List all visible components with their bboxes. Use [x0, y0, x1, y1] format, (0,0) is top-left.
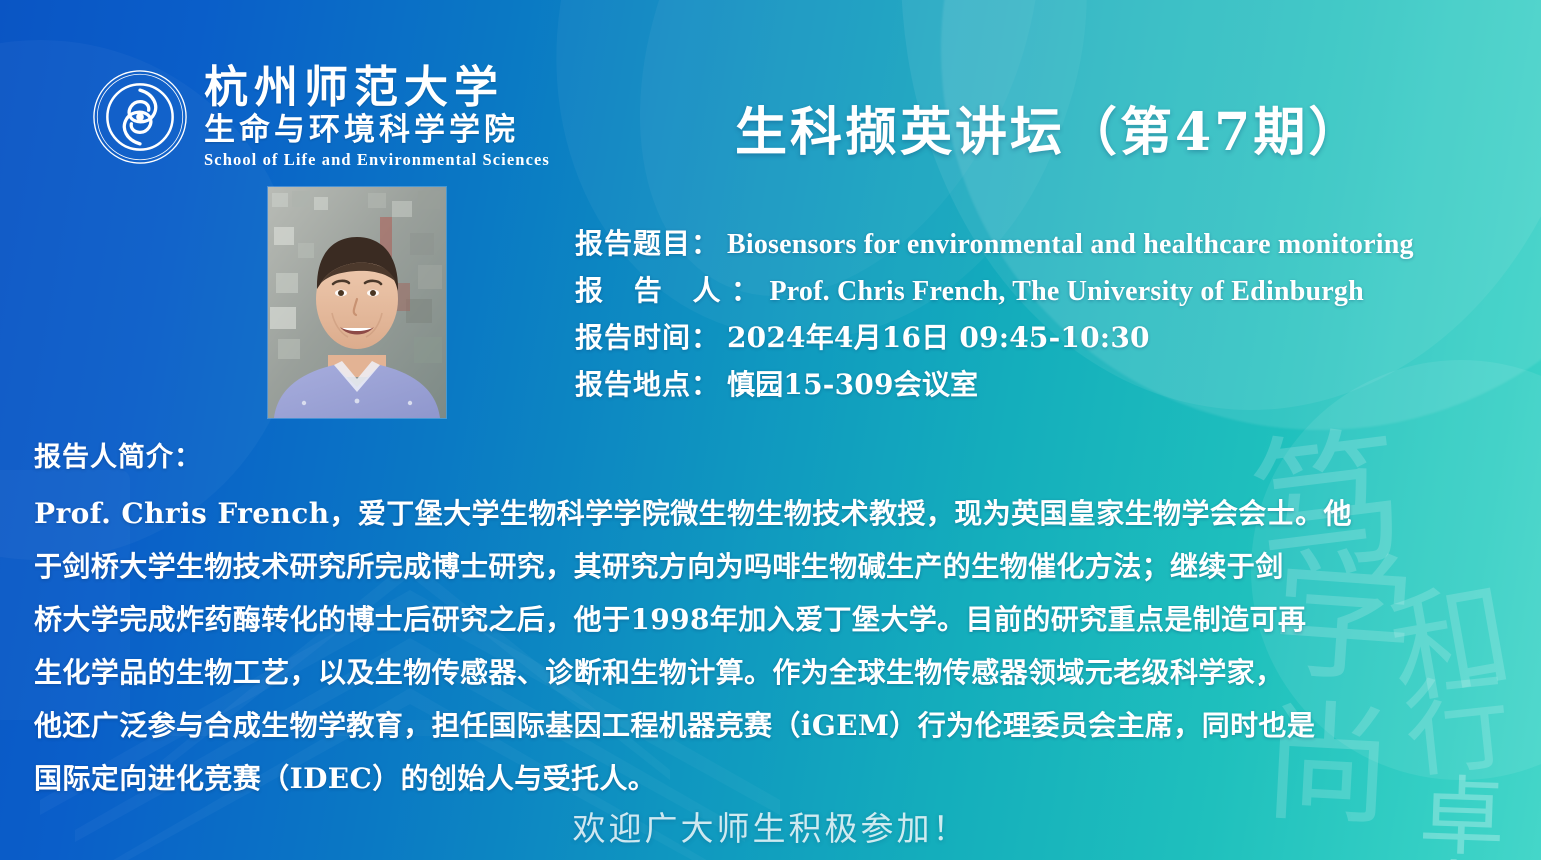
- bio-line: 他还广泛参与合成生物学教育，担任国际基因工程机器竞赛（iGEM）行为伦理委员会主…: [34, 699, 1514, 752]
- info-label-time: 报告时间：: [575, 316, 727, 356]
- info-value-speaker: Prof. Chris French, The University of Ed…: [770, 276, 1364, 308]
- bio-heading: 报告人简介：: [34, 435, 1514, 474]
- info-value-venue: 慎园15-309会议室: [727, 363, 978, 403]
- college-name-cn: 生命与环境科学学院: [204, 115, 550, 146]
- footer-invitation: 欢迎广大师生积极参加！: [0, 802, 1541, 850]
- info-label-venue: 报告地点：: [575, 363, 727, 403]
- bio-line: 生化学品的生物工艺，以及生物传感器、诊断和生物计算。作为全球生物传感器领域元老级…: [34, 646, 1514, 699]
- speaker-portrait: [268, 187, 446, 418]
- university-seal-icon: [92, 69, 188, 165]
- info-row-topic: 报告题目： Biosensors for environmental and h…: [575, 222, 1414, 262]
- speaker-biography: 报告人简介： Prof. Chris French，爱丁堡大学生物科学学院微生物…: [34, 435, 1514, 805]
- info-label-speaker: 报 告 人：: [575, 269, 770, 309]
- info-row-speaker: 报 告 人： Prof. Chris French, The Universit…: [575, 269, 1414, 309]
- bio-line: 桥大学完成炸药酶转化的博士后研究之后，他于1998年加入爱丁堡大学。目前的研究重…: [34, 593, 1514, 646]
- info-label-topic: 报告题目：: [575, 222, 727, 262]
- university-name-cn: 杭州师范大学: [204, 66, 550, 110]
- info-value-topic: Biosensors for environmental and healthc…: [727, 229, 1414, 261]
- university-logo-text: 杭州师范大学 生命与环境科学学院 School of Life and Envi…: [204, 66, 550, 169]
- bio-line: Prof. Chris French，爱丁堡大学生物科学学院微生物生物技术教授，…: [34, 487, 1514, 540]
- college-name-en: School of Life and Environmental Science…: [204, 152, 550, 169]
- info-row-time: 报告时间： 2024年4月16日 09:45-10:30: [575, 316, 1414, 356]
- info-value-time: 2024年4月16日 09:45-10:30: [727, 316, 1150, 356]
- page-title: 生科撷英讲坛（第47期）: [735, 90, 1363, 165]
- poster-root: 笃 学 和 尚 行 卓 越 杭州师范大学 生命与环境科学学院: [0, 0, 1541, 860]
- bio-line: 国际定向进化竞赛（IDEC）的创始人与受托人。: [34, 752, 1514, 805]
- info-row-venue: 报告地点： 慎园15-309会议室: [575, 363, 1414, 403]
- bio-line: 于剑桥大学生物技术研究所完成博士研究，其研究方向为吗啡生物碱生产的生物催化方法；…: [34, 540, 1514, 593]
- lecture-info: 报告题目： Biosensors for environmental and h…: [575, 222, 1414, 410]
- poster-header: 杭州师范大学 生命与环境科学学院 School of Life and Envi…: [0, 0, 1541, 180]
- university-logo: 杭州师范大学 生命与环境科学学院 School of Life and Envi…: [92, 66, 550, 169]
